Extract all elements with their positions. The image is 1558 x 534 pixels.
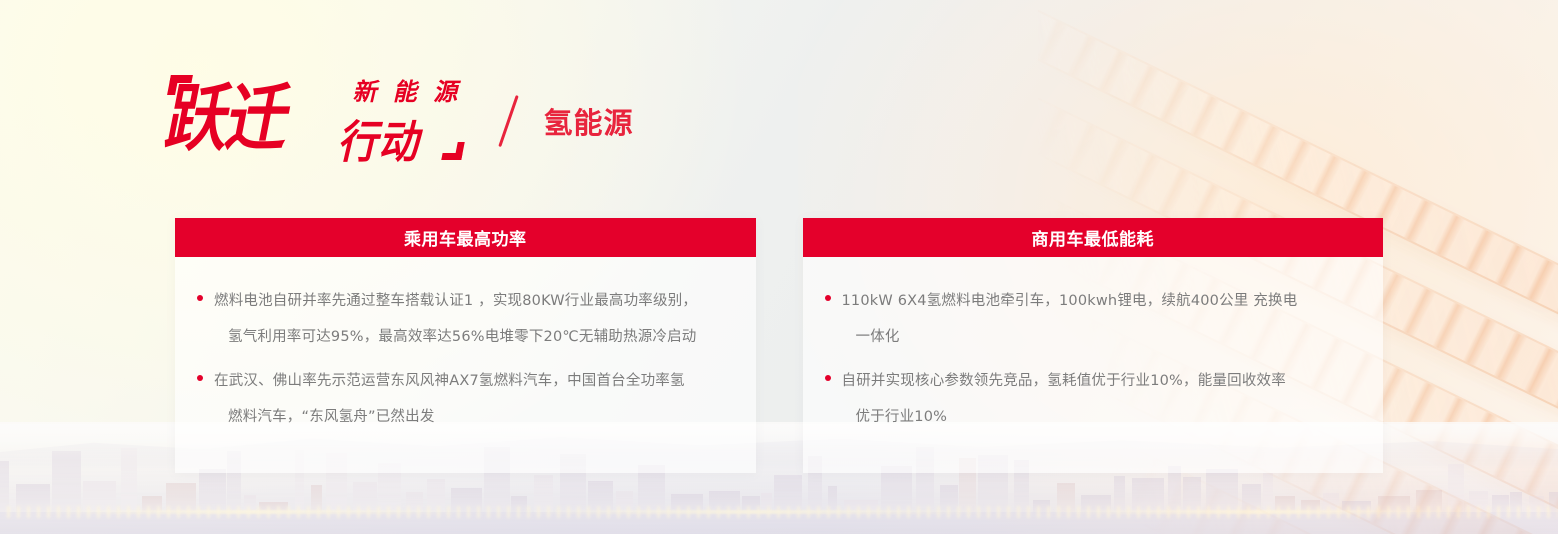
slide-stage: 跃迁 新 能 源 行动 氢能源 乘用车最高功率燃料电池自研并率先通过整车搭载认证… bbox=[0, 0, 1558, 534]
bullet-dot-icon bbox=[825, 375, 831, 381]
card-list: 乘用车最高功率燃料电池自研并率先通过整车搭载认证1 ，实现80KW行业最高功率级… bbox=[0, 218, 1558, 473]
bullet-item: 自研并实现核心参数领先竞品，氢耗值优于行业10%，能量回收效率优于行业10% bbox=[819, 363, 1362, 435]
bullet-item: 在武汉、佛山率先示范运营东风风神AX7氢燃料汽车，中国首台全功率氢燃料汽车，“东… bbox=[191, 363, 734, 435]
bullet-dot-icon bbox=[825, 295, 831, 301]
card-body: 燃料电池自研并率先通过整车搭载认证1 ，实现80KW行业最高功率级别，氢气利用率… bbox=[175, 257, 756, 473]
bullet-item: 110kW 6X4氢燃料电池牵引车，100kwh锂电，续航400公里 充换电一体… bbox=[819, 283, 1362, 355]
logo-sub-bottom-text: 行动 bbox=[334, 106, 431, 171]
bullet-line: 110kW 6X4氢燃料电池牵引车，100kwh锂电，续航400公里 充换电 bbox=[842, 283, 1298, 319]
bullet-text: 在武汉、佛山率先示范运营东风风神AX7氢燃料汽车，中国首台全功率氢燃料汽车，“东… bbox=[214, 363, 685, 435]
brand-logo: 跃迁 新 能 源 行动 氢能源 bbox=[175, 76, 634, 166]
bullet-line: 燃料电池自研并率先通过整车搭载认证1 ，实现80KW行业最高功率级别， bbox=[214, 283, 697, 319]
bullet-item: 燃料电池自研并率先通过整车搭载认证1 ，实现80KW行业最高功率级别，氢气利用率… bbox=[191, 283, 734, 355]
logo-divider-icon bbox=[498, 95, 518, 147]
bullet-line: 优于行业10% bbox=[842, 399, 1286, 435]
bullet-text: 110kW 6X4氢燃料电池牵引车，100kwh锂电，续航400公里 充换电一体… bbox=[842, 283, 1298, 355]
bullet-line: 燃料汽车，“东风氢舟”已然出发 bbox=[214, 399, 685, 435]
card-body: 110kW 6X4氢燃料电池牵引车，100kwh锂电，续航400公里 充换电一体… bbox=[803, 257, 1384, 473]
logo-sub-top-text: 新 能 源 bbox=[351, 72, 468, 107]
bullet-text: 自研并实现核心参数领先竞品，氢耗值优于行业10%，能量回收效率优于行业10% bbox=[842, 363, 1286, 435]
logo-mark: 跃迁 新 能 源 行动 bbox=[175, 76, 475, 166]
card-title: 商用车最低能耗 bbox=[803, 218, 1384, 257]
info-card: 乘用车最高功率燃料电池自研并率先通过整车搭载认证1 ，实现80KW行业最高功率级… bbox=[175, 218, 756, 473]
card-title: 乘用车最高功率 bbox=[175, 218, 756, 257]
bullet-line: 在武汉、佛山率先示范运营东风风神AX7氢燃料汽车，中国首台全功率氢 bbox=[214, 363, 685, 399]
logo-bracket-bottom-right-icon bbox=[441, 142, 464, 160]
bullet-dot-icon bbox=[197, 375, 203, 381]
bullet-dot-icon bbox=[197, 295, 203, 301]
bullet-line: 自研并实现核心参数领先竞品，氢耗值优于行业10%，能量回收效率 bbox=[842, 363, 1286, 399]
bullet-text: 燃料电池自研并率先通过整车搭载认证1 ，实现80KW行业最高功率级别，氢气利用率… bbox=[214, 283, 697, 355]
bullet-line: 氢气利用率可达95%，最高效率达56%电堆零下20℃无辅助热源冷启动 bbox=[214, 319, 697, 355]
bullet-line: 一体化 bbox=[842, 319, 1298, 355]
info-card: 商用车最低能耗110kW 6X4氢燃料电池牵引车，100kwh锂电，续航400公… bbox=[803, 218, 1384, 473]
logo-main-text: 跃迁 bbox=[161, 82, 295, 155]
logo-tagline: 氢能源 bbox=[544, 100, 634, 142]
